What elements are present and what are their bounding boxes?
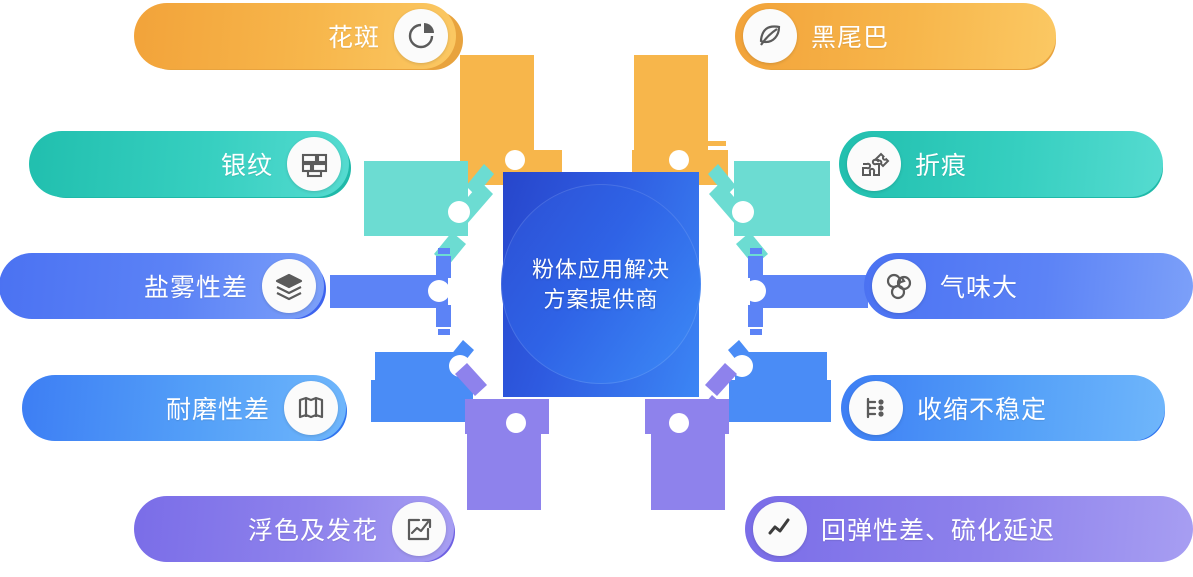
node-shousuobuwending-label: 收缩不稳定 [917,390,1047,426]
pie-chart-icon [394,9,448,63]
node-yanwuxingcha[interactable]: 盐雾性差 [0,253,324,319]
connector-qiweida [744,248,868,335]
center-hub: 粉体应用解决 方案提供商 [503,172,699,397]
node-zhehen[interactable]: 折痕 [839,131,1163,197]
connector-zhehen [708,161,830,266]
node-yinwen[interactable]: 银纹 [29,131,349,197]
node-yinwen-label: 银纹 [221,146,273,182]
connector-naimoxingcha [371,340,474,422]
sitemap-icon [849,381,903,435]
puzzle-piece-icon [847,137,901,191]
node-huitanxingcha-label: 回弹性差、硫化延迟 [821,511,1055,547]
connector-yanwuxingcha [330,248,451,335]
leaf-icon [743,9,797,63]
layers-icon [262,259,316,313]
node-zhehen-label: 折痕 [915,146,967,182]
node-huitanxingcha[interactable]: 回弹性差、硫化延迟 [745,496,1193,562]
hub-label-line2: 方案提供商 [543,285,658,315]
hub-label-line1: 粉体应用解决 [532,255,670,285]
node-qiweida[interactable]: 气味大 [864,253,1193,319]
node-naimoxingcha[interactable]: 耐磨性差 [22,375,346,441]
node-naimoxingcha-label: 耐磨性差 [166,390,270,426]
node-huaban[interactable]: 花斑 [134,3,456,69]
node-fusejifahua-label: 浮色及发花 [248,511,378,547]
brick-wall-icon [287,137,341,191]
node-heiweiba[interactable]: 黑尾巴 [735,3,1056,69]
connector-shousuobuwending [728,340,831,422]
line-chart-circle-icon [753,502,807,556]
connector-yinwen [364,161,494,266]
node-huaban-label: 花斑 [328,18,380,54]
node-shousuobuwending[interactable]: 收缩不稳定 [841,375,1165,441]
hub-label: 粉体应用解决 方案提供商 [503,172,699,397]
map-book-icon [284,381,338,435]
node-qiweida-label: 气味大 [940,268,1018,304]
node-fusejifahua[interactable]: 浮色及发花 [134,496,454,562]
recycle-icon [872,259,926,313]
node-yanwuxingcha-label: 盐雾性差 [144,268,248,304]
trend-up-box-icon [392,502,446,556]
diagram-canvas: 粉体应用解决 方案提供商 花斑 黑尾巴 银纹 [0,0,1193,577]
node-heiweiba-label: 黑尾巴 [811,18,889,54]
